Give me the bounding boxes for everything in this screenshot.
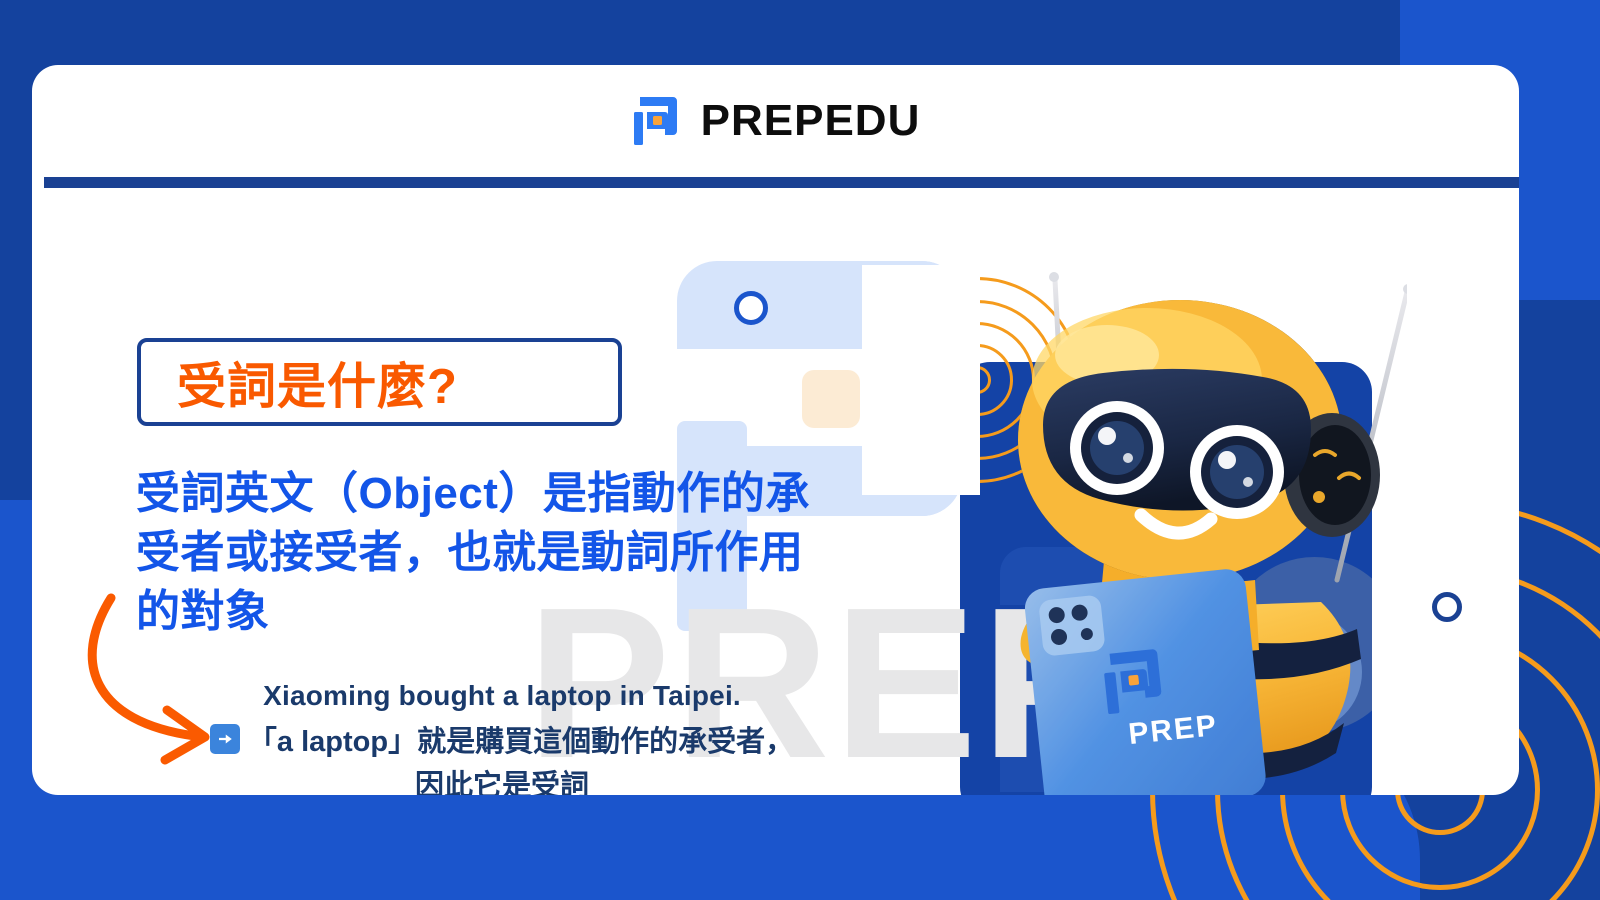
- example-explanation-row: 「a laptop」就是購買這個動作的承受者，: [182, 718, 822, 760]
- brand-logo-text: PREPEDU: [701, 96, 921, 146]
- example-block: Xiaoming bought a laptop in Taipei. 「a l…: [182, 680, 822, 795]
- header-divider: [44, 177, 1519, 188]
- brand-logo[interactable]: PREPEDU: [631, 95, 921, 147]
- card-header: PREPEDU: [32, 65, 1519, 177]
- prep-p-mark-icon: [631, 95, 683, 147]
- content-card: PREP PREPEDU: [32, 65, 1519, 795]
- question-title-box: 受詞是什麼?: [137, 338, 622, 426]
- example-sentence: Xiaoming bought a laptop in Taipei.: [182, 680, 822, 712]
- bee-robot-mascot: PREP: [937, 250, 1407, 795]
- circle-outline-icon: [734, 291, 768, 325]
- peach-square-decoration: [802, 370, 860, 428]
- example-explanation-line1: 「a laptop」就是購買這個動作的承受者，: [248, 718, 794, 760]
- example-explanation-line2: 因此它是受詞: [182, 762, 822, 795]
- arrow-right-icon: [210, 724, 240, 754]
- page-title: 受詞是什麼?: [141, 347, 458, 418]
- circle-outline-icon-2: [1432, 592, 1462, 622]
